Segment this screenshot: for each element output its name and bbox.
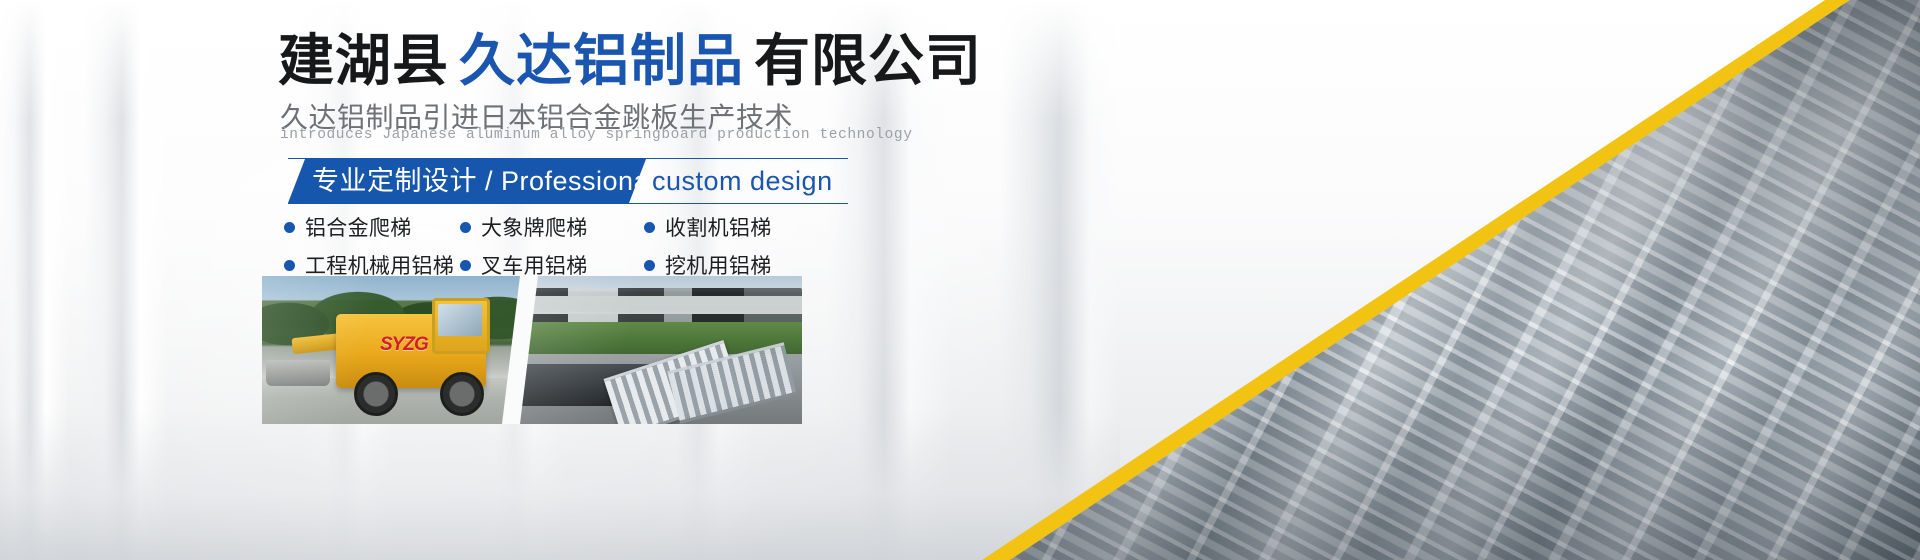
bullet-dot-icon bbox=[284, 260, 295, 271]
photo-wheel-loader-wheel bbox=[354, 372, 398, 416]
photo-wheel-loader: SYZG bbox=[262, 276, 528, 424]
company-title-highlight: 久达铝制品 bbox=[453, 32, 750, 91]
bullet-dot-icon bbox=[284, 222, 295, 233]
bullet-dot-icon bbox=[460, 260, 471, 271]
product-item-elephant-brand-ladder[interactable]: 大象牌爬梯 bbox=[460, 212, 588, 242]
company-title-suffix: 有限公司 bbox=[754, 29, 982, 92]
product-item-harvester-ladder[interactable]: 收割机铝梯 bbox=[644, 212, 772, 242]
bullet-dot-icon bbox=[644, 222, 655, 233]
product-photo-pair: SYZG bbox=[262, 276, 802, 424]
tagline-bottom-rule bbox=[288, 203, 848, 204]
photo-wheel-loader-wheel bbox=[440, 372, 484, 416]
photo-wheel-loader-windshield bbox=[438, 304, 482, 336]
tagline-primary-text: 专业定制设计 / Professional bbox=[312, 159, 656, 203]
company-title-prefix: 建湖县 bbox=[278, 29, 449, 92]
photo-truck-ramp bbox=[514, 276, 802, 424]
tagline-strip: 专业定制设计 / Professional custom design bbox=[288, 158, 848, 204]
company-title: 建湖县久达铝制品有限公司 bbox=[278, 32, 982, 91]
photo-wheel-loader-brand-mark: SYZG bbox=[380, 334, 428, 356]
bullet-dot-icon bbox=[460, 222, 471, 233]
product-item-label: 收割机铝梯 bbox=[665, 212, 772, 242]
bullet-dot-icon bbox=[644, 260, 655, 271]
promo-banner: 建湖县久达铝制品有限公司 久达铝制品引进日本铝合金跳板生产技术 introduc… bbox=[0, 0, 1920, 560]
product-item-label: 铝合金爬梯 bbox=[305, 212, 412, 242]
product-item-label: 大象牌爬梯 bbox=[481, 212, 588, 242]
tagline-secondary-text: custom design bbox=[652, 159, 833, 203]
subtitle-english: introduces Japanese aluminum alloy sprin… bbox=[280, 127, 913, 143]
photo-wheel-loader-bucket bbox=[266, 360, 330, 386]
product-item-aluminum-alloy-ladder[interactable]: 铝合金爬梯 bbox=[284, 212, 412, 242]
company-title-highlight-text: 久达铝制品 bbox=[459, 29, 744, 92]
